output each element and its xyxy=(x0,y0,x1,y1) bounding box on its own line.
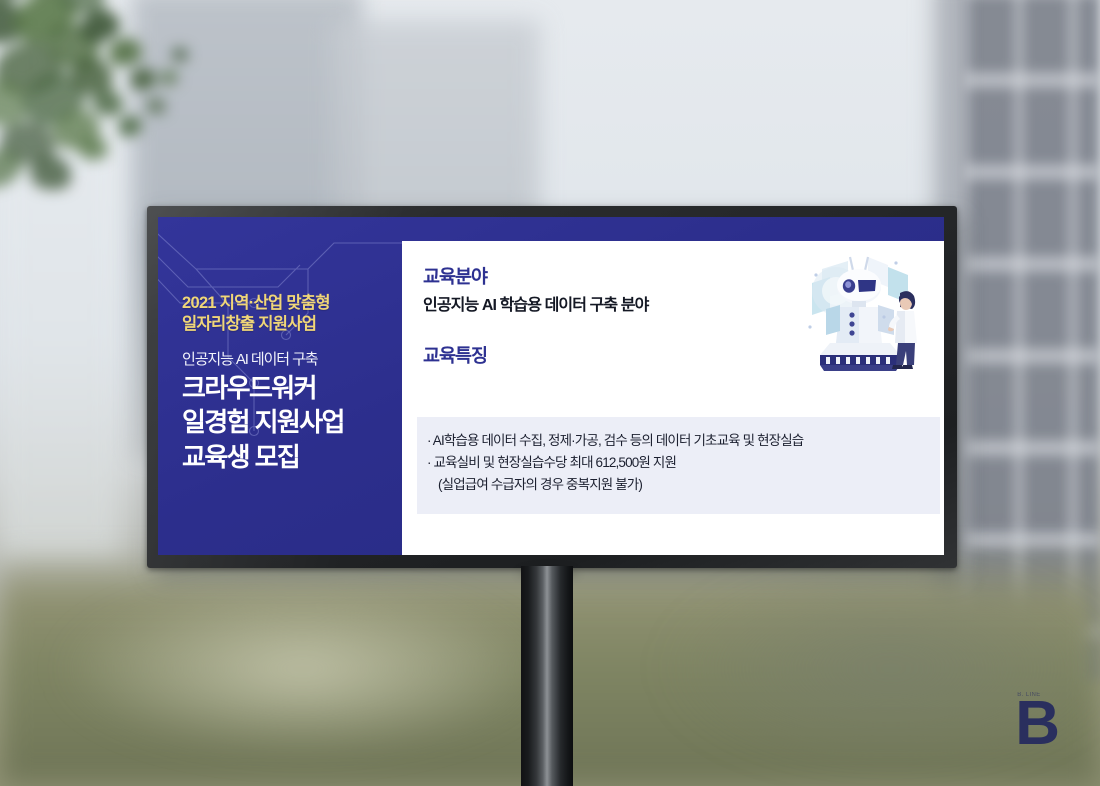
kicker-line-2: 일자리창출 지원사업 xyxy=(182,314,397,335)
poster-headline: 크라우드워커 일경험 지원사업 교육생 모집 xyxy=(182,370,397,473)
billboard: 2021 지역·산업 맞춤형 일자리창출 지원사업 인공지능 AI 데이터 구축… xyxy=(147,206,957,568)
watermark-logo-letter: B xyxy=(1015,700,1058,748)
poster-kicker: 2021 지역·산업 맞춤형 일자리창출 지원사업 xyxy=(182,293,397,336)
headline-line-1: 크라우드워커 xyxy=(182,373,397,404)
billboard-support-pole xyxy=(521,566,573,786)
headline-line-2: 일경험 지원사업 xyxy=(182,407,397,438)
bullet-item-3: (실업급여 수급자의 경우 중복지원 불가) xyxy=(427,474,930,496)
kicker-line-1: 2021 지역·산업 맞춤형 xyxy=(182,293,397,314)
headline-line-3: 교육생 모집 xyxy=(182,442,397,473)
poster-left-column: 2021 지역·산업 맞춤형 일자리창출 지원사업 인공지능 AI 데이터 구축… xyxy=(182,217,397,555)
poster-info-card: 교육분야 인공지능 AI 학습용 데이터 구축 분야 교육특징 xyxy=(402,241,944,555)
leaf-shape xyxy=(106,36,144,68)
bullet-item-2: · 교육실비 및 현장실습수당 최대 612,500원 지원 xyxy=(427,452,930,474)
leaf-shape xyxy=(76,134,109,162)
poster-subtitle: 인공지능 AI 데이터 구축 xyxy=(182,351,397,370)
watermark: B. LINE B xyxy=(1015,692,1058,748)
background-ground-highlight xyxy=(55,582,550,755)
ai-robot-illustration xyxy=(796,247,940,377)
leaf-shape xyxy=(145,96,167,115)
leaf-shape xyxy=(128,66,158,93)
leaf-shape xyxy=(159,69,179,87)
education-features-list: · AI학습용 데이터 수집, 정제·가공, 검수 등의 데이터 기초교육 및 … xyxy=(417,417,940,514)
billboard-display-surface: 2021 지역·산업 맞춤형 일자리창출 지원사업 인공지능 AI 데이터 구축… xyxy=(158,217,944,555)
leaf-shape xyxy=(115,113,144,139)
watermark-small-text: B. LINE xyxy=(1017,692,1058,698)
bullet-item-1: · AI학습용 데이터 수집, 정제·가공, 검수 등의 데이터 기초교육 및 … xyxy=(427,430,930,452)
leaf-shape xyxy=(171,46,190,62)
